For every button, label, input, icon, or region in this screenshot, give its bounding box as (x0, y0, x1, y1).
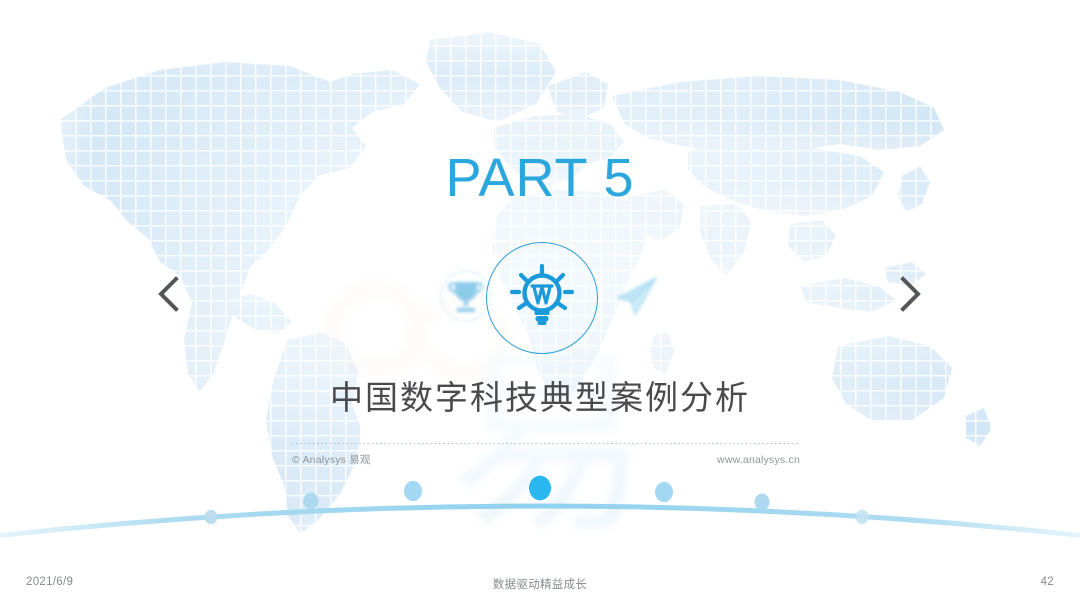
previous-slide-arrow[interactable] (146, 271, 192, 317)
deck-title: 数据驱动精益成长 (0, 576, 1080, 592)
lightbulb-icon (505, 261, 579, 335)
progress-dot[interactable] (205, 510, 218, 525)
progress-dot-active[interactable] (529, 476, 551, 501)
part-title: PART 5 (0, 147, 1080, 209)
progress-dot-group (205, 476, 869, 525)
lightbulb-section-icon[interactable] (486, 242, 598, 354)
paper-plane-icon[interactable] (608, 268, 664, 324)
brand-glyph-watermark: 易 (430, 330, 670, 560)
footer-divider (292, 443, 800, 444)
progress-dot[interactable] (404, 481, 422, 501)
website-label: www.analysys.cn (717, 454, 800, 466)
chevron-right-icon (896, 274, 924, 314)
section-icon-cluster (420, 240, 670, 350)
slide-canvas: 易 PART 5 (0, 0, 1080, 608)
progress-dot[interactable] (655, 482, 673, 502)
source-row: © Analysys 易观 www.analysys.cn (292, 452, 800, 467)
slide-status-bar: 2021/6/9 数据驱动精益成长 42 (0, 564, 1080, 608)
progress-dot[interactable] (755, 494, 770, 511)
copyright-label: © Analysys 易观 (292, 452, 371, 467)
section-progress-arc (0, 468, 1080, 540)
section-subtitle: 中国数字科技典型案例分析 (0, 371, 1080, 419)
progress-dot[interactable] (304, 493, 319, 510)
next-slide-arrow[interactable] (887, 271, 933, 317)
chevron-left-icon (155, 274, 183, 314)
slide-page-number: 42 (1041, 576, 1054, 588)
progress-dot[interactable] (856, 510, 869, 525)
